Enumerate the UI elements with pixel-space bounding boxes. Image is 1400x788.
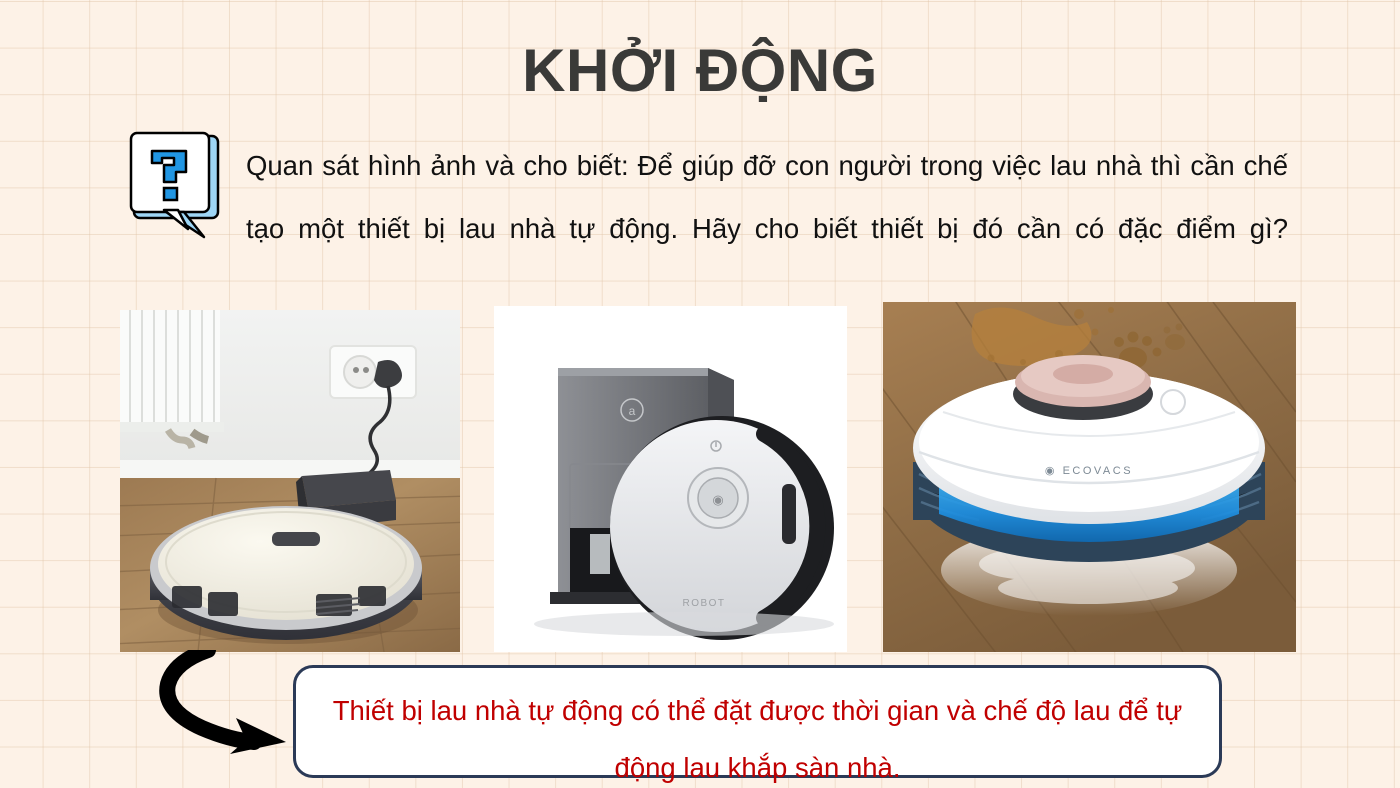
svg-text:◉: ◉ [712,492,723,507]
answer-text: Thiết bị lau nhà tự động có thể đặt được… [318,682,1197,788]
robot-vacuum-with-station-product-photo: a ◉ ROBOT [494,306,847,652]
svg-text:ROBOT: ROBOT [682,598,725,609]
page-title: KHỞI ĐỘNG [0,38,1400,104]
question-prompt-text: Quan sát hình ảnh và cho biết: Để giúp đ… [246,134,1288,323]
robot-mop-water-tank-photo: ◉ ECOVACS [883,302,1296,652]
slide-canvas: KHỞI ĐỘNG Quan sát hình ảnh và cho biết:… [0,0,1400,788]
svg-text:◉ ECOVACS: ◉ ECOVACS [1045,465,1133,477]
question-speech-bubble-icon [126,130,222,240]
svg-text:a: a [629,404,636,418]
answer-callout-box: Thiết bị lau nhà tự động có thể đặt được… [293,665,1222,778]
curved-arrow-icon [150,650,300,760]
robot-vacuum-charging-dock-photo [120,310,460,652]
